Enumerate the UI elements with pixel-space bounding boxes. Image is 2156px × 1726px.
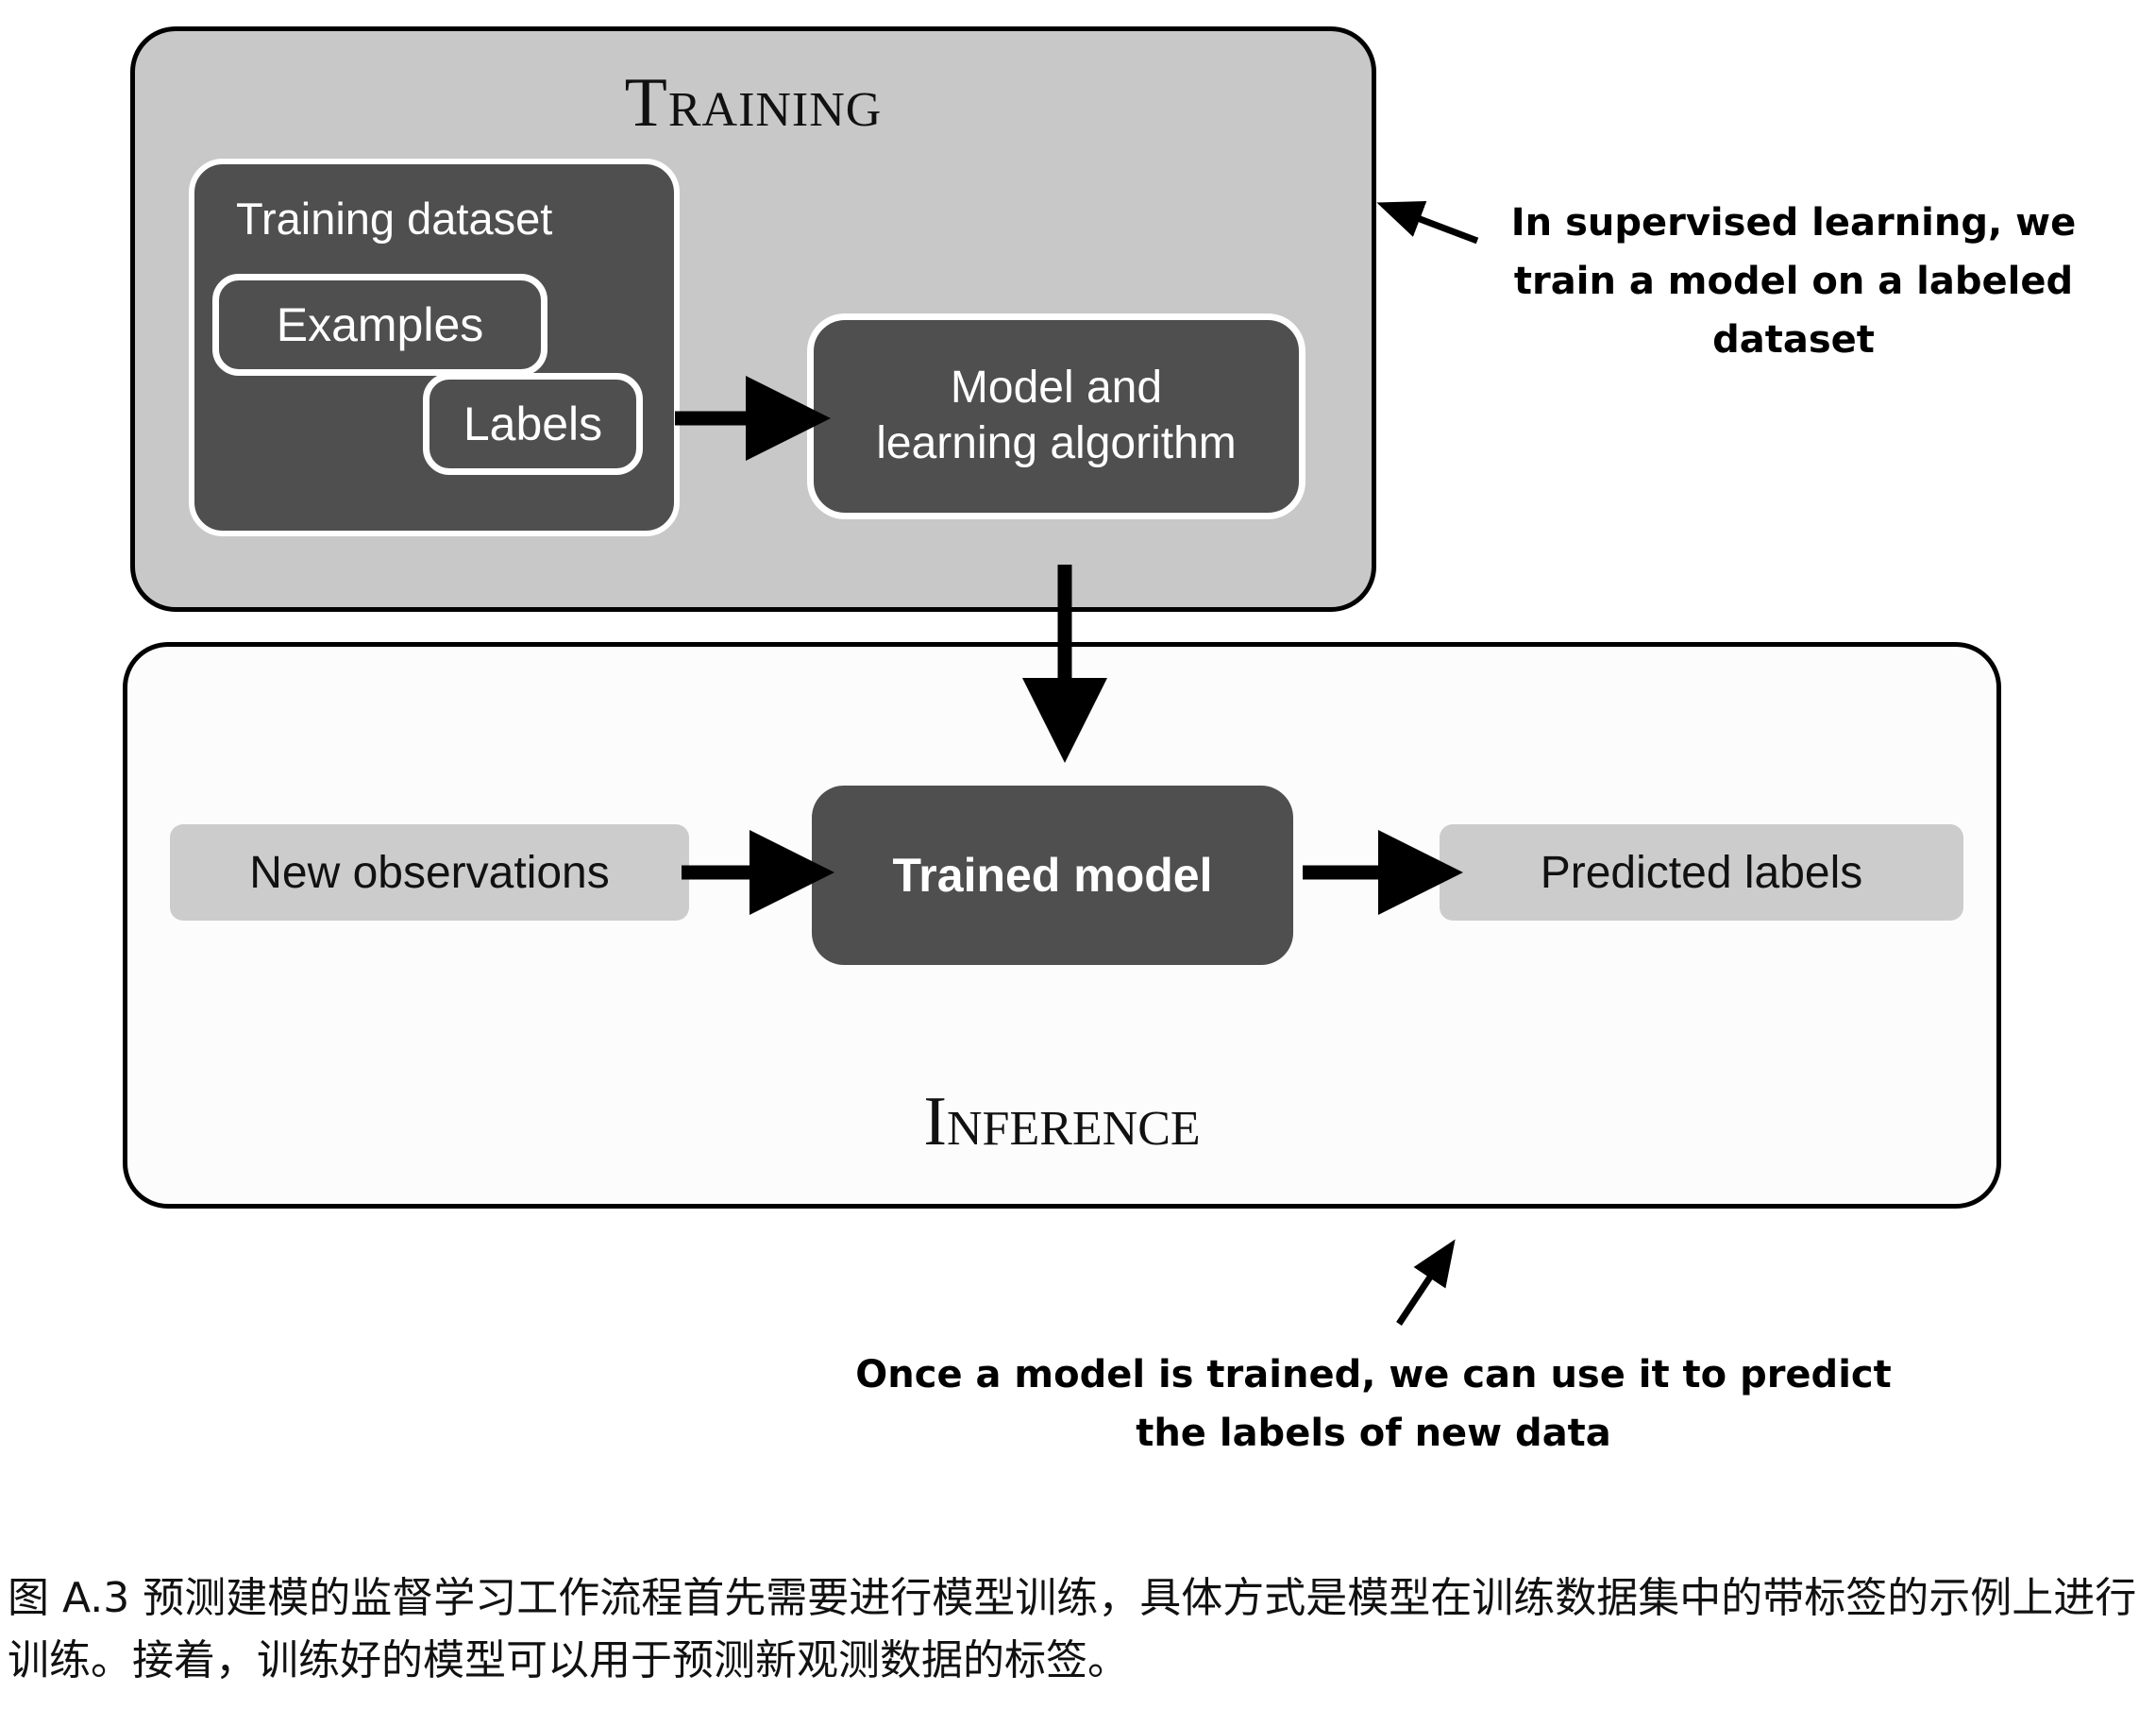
bottom-annotation-note: Once a model is trained, we can use it t… [831, 1345, 1916, 1463]
trained-model-label: Trained model [893, 848, 1213, 903]
bottom-note-line-2: the labels of new data [1136, 1412, 1611, 1455]
leader-line-bottom-note [1399, 1256, 1444, 1324]
examples-label: Examples [219, 280, 541, 369]
model-and-learning-algorithm-label: Model and learning algorithm [876, 361, 1237, 471]
new-observations-label: New observations [249, 847, 610, 899]
figure-canvas: Training Training dataset Examples Label… [0, 0, 2156, 1726]
top-annotation-note: In supervised learning, we train a model… [1501, 194, 2086, 369]
inference-panel-title: Inference [127, 1082, 1996, 1162]
figure-caption: 图 A.3 预测建模的监督学习工作流程首先需要进行模型训练，具体方式是模型在训练… [8, 1567, 2148, 1692]
leader-line-top-note [1395, 210, 1477, 241]
model-label-line-2: learning algorithm [876, 418, 1237, 468]
model-label-line-1: Model and [951, 363, 1162, 413]
trained-model-box: Trained model [812, 786, 1293, 965]
predicted-labels-label: Predicted labels [1541, 847, 1863, 899]
predicted-labels-box: Predicted labels [1440, 824, 1963, 921]
training-panel-title: Training [135, 63, 1372, 144]
top-note-line-2: train a model on a labeled [1514, 260, 2073, 303]
labels-label: Labels [430, 380, 636, 468]
examples-box: Examples [212, 274, 547, 376]
bottom-note-line-1: Once a model is trained, we can use it t… [855, 1353, 1891, 1396]
training-dataset-label: Training dataset [236, 193, 552, 245]
top-note-line-3: dataset [1712, 318, 1875, 362]
labels-box: Labels [423, 373, 643, 475]
model-and-learning-algorithm-box: Model and learning algorithm [807, 313, 1305, 519]
top-note-line-1: In supervised learning, we [1511, 201, 2076, 245]
new-observations-box: New observations [170, 824, 689, 921]
